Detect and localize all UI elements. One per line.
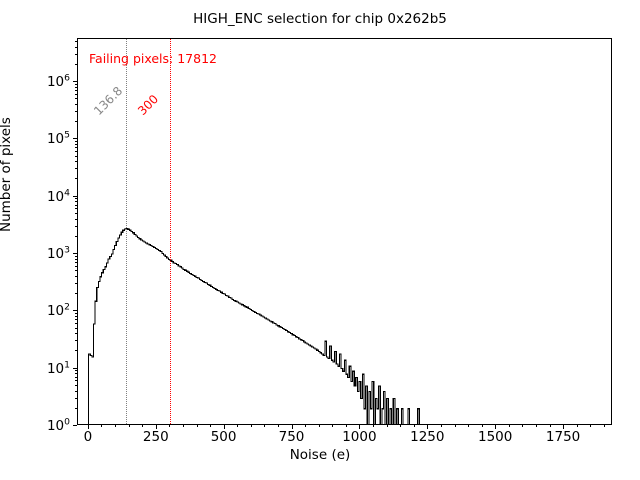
y-tickmark (73, 81, 77, 82)
y-tickmark (73, 310, 77, 311)
y-minor-tickmark (75, 208, 77, 209)
x-minor-tickmark (319, 425, 320, 427)
matplotlib-figure: HIGH_ENC selection for chip 0x262b5 Fail… (0, 0, 640, 480)
x-minor-tickmark (210, 425, 211, 427)
x-minor-tickmark (237, 425, 238, 427)
y-minor-tickmark (75, 293, 77, 294)
x-minor-tickmark (550, 425, 551, 427)
y-minor-tickmark (75, 377, 77, 378)
y-minor-tickmark (75, 147, 77, 148)
x-minor-tickmark (509, 425, 510, 427)
x-minor-tickmark (522, 425, 523, 427)
y-minor-tickmark (75, 256, 77, 257)
y-minor-tickmark (75, 156, 77, 157)
y-minor-tickmark (75, 408, 77, 409)
y-minor-tickmark (75, 64, 77, 65)
y-minor-tickmark (75, 373, 77, 374)
failing-pixels-annotation: Failing pixels: 17812 (89, 51, 217, 66)
plot-clip (78, 39, 611, 424)
mean-noise-vline (126, 39, 127, 424)
y-minor-tickmark (75, 262, 77, 263)
x-minor-tickmark (305, 425, 306, 427)
x-minor-tickmark (400, 425, 401, 427)
histogram-series (78, 39, 611, 424)
x-minor-tickmark (482, 425, 483, 427)
y-minor-tickmark (75, 333, 77, 334)
y-minor-tickmark (75, 236, 77, 237)
y-minor-tickmark (75, 94, 77, 95)
y-tick-label: 101 (47, 359, 70, 377)
x-tick-label: 500 (211, 429, 237, 445)
x-minor-tickmark (332, 425, 333, 427)
y-tick-label: 102 (47, 302, 70, 320)
y-minor-tickmark (75, 198, 77, 199)
x-minor-tickmark (251, 425, 252, 427)
x-minor-tickmark (278, 425, 279, 427)
y-minor-tickmark (75, 151, 77, 152)
plot-area (77, 38, 612, 425)
x-tick-label: 1000 (342, 429, 376, 445)
y-tick-label: 105 (47, 130, 70, 148)
y-minor-tickmark (75, 328, 77, 329)
x-minor-tickmark (455, 425, 456, 427)
x-minor-tickmark (536, 425, 537, 427)
y-minor-tickmark (75, 313, 77, 314)
y-minor-tickmark (75, 104, 77, 105)
x-minor-tickmark (387, 425, 388, 427)
cut-vline (170, 39, 171, 424)
x-minor-tickmark (115, 425, 116, 427)
x-minor-tickmark (590, 425, 591, 427)
y-minor-tickmark (75, 316, 77, 317)
y-minor-tickmark (75, 276, 77, 277)
y-minor-tickmark (75, 380, 77, 381)
y-minor-tickmark (75, 226, 77, 227)
y-minor-tickmark (75, 178, 77, 179)
y-tickmark (73, 253, 77, 254)
y-minor-tickmark (75, 47, 77, 48)
x-minor-tickmark (441, 425, 442, 427)
y-minor-tickmark (75, 283, 77, 284)
y-minor-tickmark (75, 144, 77, 145)
y-tickmark (73, 425, 77, 426)
y-tick-label: 100 (47, 416, 70, 434)
y-tick-label: 103 (47, 244, 70, 262)
x-tick-label: 750 (279, 429, 305, 445)
x-minor-tickmark (197, 425, 198, 427)
y-minor-tickmark (75, 141, 77, 142)
y-minor-tickmark (75, 98, 77, 99)
x-minor-tickmark (129, 425, 130, 427)
x-minor-tickmark (346, 425, 347, 427)
y-minor-tickmark (75, 121, 77, 122)
x-tick-label: 0 (84, 429, 93, 445)
y-minor-tickmark (75, 111, 77, 112)
y-minor-tickmark (75, 213, 77, 214)
y-minor-tickmark (75, 84, 77, 85)
x-tick-label: 1250 (410, 429, 444, 445)
y-minor-tickmark (75, 270, 77, 271)
x-minor-tickmark (604, 425, 605, 427)
y-minor-tickmark (75, 168, 77, 169)
y-tick-label: 104 (47, 187, 70, 205)
x-tick-label: 1750 (546, 429, 580, 445)
y-tickmark (73, 368, 77, 369)
y-minor-tickmark (75, 259, 77, 260)
y-minor-tickmark (75, 350, 77, 351)
x-minor-tickmark (169, 425, 170, 427)
y-tickmark (73, 138, 77, 139)
x-minor-tickmark (414, 425, 415, 427)
y-minor-tickmark (75, 41, 77, 42)
chart-title: HIGH_ENC selection for chip 0x262b5 (0, 11, 640, 27)
y-minor-tickmark (75, 391, 77, 392)
y-minor-tickmark (75, 385, 77, 386)
y-minor-tickmark (75, 54, 77, 55)
y-minor-tickmark (75, 161, 77, 162)
y-minor-tickmark (75, 205, 77, 206)
y-minor-tickmark (75, 201, 77, 202)
y-minor-tickmark (75, 90, 77, 91)
y-minor-tickmark (75, 87, 77, 88)
x-minor-tickmark (373, 425, 374, 427)
y-tick-label: 106 (47, 72, 70, 90)
x-minor-tickmark (183, 425, 184, 427)
y-minor-tickmark (75, 319, 77, 320)
y-minor-tickmark (75, 323, 77, 324)
y-minor-tickmark (75, 370, 77, 371)
x-minor-tickmark (142, 425, 143, 427)
y-minor-tickmark (75, 340, 77, 341)
y-tickmark (73, 196, 77, 197)
y-minor-tickmark (75, 398, 77, 399)
x-minor-tickmark (101, 425, 102, 427)
y-minor-tickmark (75, 219, 77, 220)
x-minor-tickmark (468, 425, 469, 427)
y-axis-label: Number of pixels (0, 0, 14, 232)
y-minor-tickmark (75, 266, 77, 267)
x-minor-tickmark (264, 425, 265, 427)
x-minor-tickmark (577, 425, 578, 427)
x-tick-label: 250 (143, 429, 169, 445)
x-tick-label: 1500 (478, 429, 512, 445)
x-axis-label: Noise (e) (0, 447, 640, 463)
